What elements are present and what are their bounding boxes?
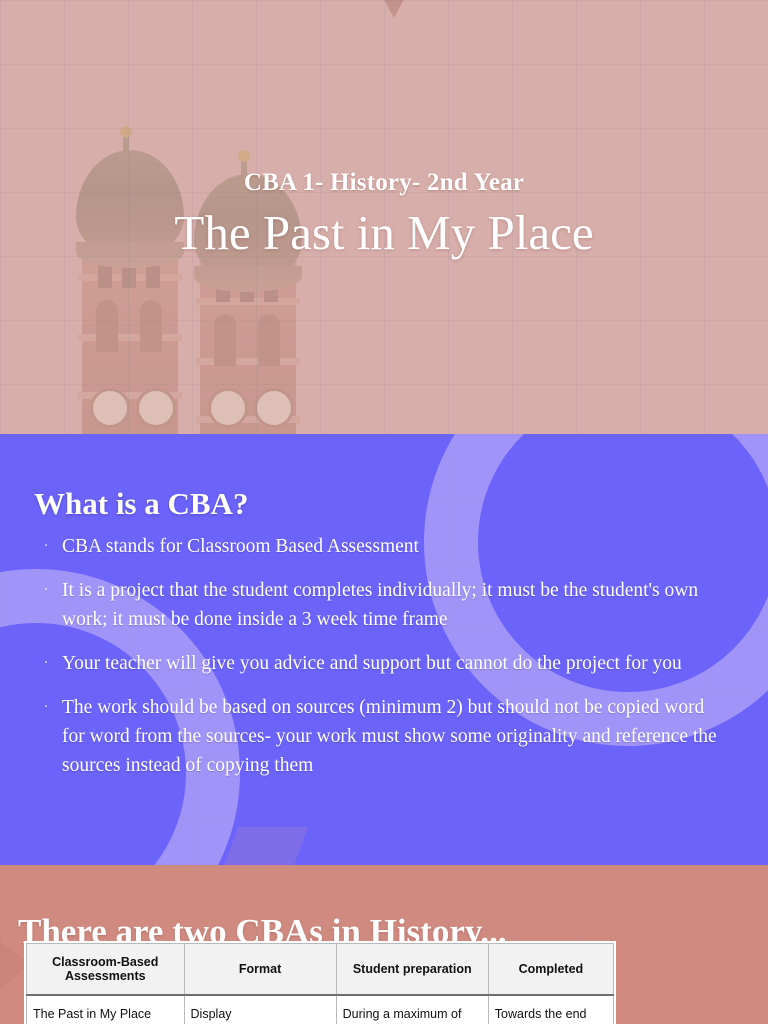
list-item-text: It is a project that the student complet…	[62, 576, 720, 634]
list-item-text: CBA stands for Classroom Based Assessmen…	[62, 532, 419, 561]
down-triangle-icon	[366, 0, 422, 18]
slide-main-title: The Past in My Place	[0, 204, 768, 262]
table-header-row: Classroom-Based Assessments Format Stude…	[27, 944, 614, 996]
cba-table: Classroom-Based Assessments Format Stude…	[26, 943, 614, 1024]
list-item: · Your teacher will give you advice and …	[30, 649, 720, 678]
column-header-completed: Completed	[488, 944, 613, 996]
list-item: · It is a project that the student compl…	[30, 576, 720, 634]
slide-what-is-a-cba: What is a CBA? · CBA stands for Classroo…	[0, 434, 768, 865]
bullet-dot-icon: ·	[30, 693, 62, 780]
table-row: The Past in My Place Display During a ma…	[27, 995, 614, 1024]
bullet-list: · CBA stands for Classroom Based Assessm…	[30, 532, 720, 795]
list-item-text: Your teacher will give you advice and su…	[62, 649, 682, 678]
wedge-decoration-icon	[222, 827, 308, 865]
column-header-assessments: Classroom-Based Assessments	[27, 944, 185, 996]
cba-table-container: Classroom-Based Assessments Format Stude…	[24, 941, 616, 1024]
slide-heading: What is a CBA?	[34, 486, 248, 522]
bullet-dot-icon: ·	[30, 532, 62, 561]
cell-format: Display	[184, 995, 336, 1024]
cell-student-preparation: During a maximum of	[336, 995, 488, 1024]
slide-two-cbas: There are two CBAs in History... Classro…	[0, 865, 768, 1024]
cell-completed: Towards the end	[488, 995, 613, 1024]
presentation-page: CBA 1- History- 2nd Year The Past in My …	[0, 0, 768, 1024]
slide-subtitle: CBA 1- History- 2nd Year	[0, 168, 768, 198]
column-header-format: Format	[184, 944, 336, 996]
slide-title: CBA 1- History- 2nd Year The Past in My …	[0, 0, 768, 434]
bullet-dot-icon: ·	[30, 649, 62, 678]
list-item: · CBA stands for Classroom Based Assessm…	[30, 532, 720, 561]
bullet-dot-icon: ·	[30, 576, 62, 634]
list-item: · The work should be based on sources (m…	[30, 693, 720, 780]
cell-assessment-name: The Past in My Place	[27, 995, 185, 1024]
list-item-text: The work should be based on sources (min…	[62, 693, 720, 780]
column-header-student-preparation: Student preparation	[336, 944, 488, 996]
title-block: CBA 1- History- 2nd Year The Past in My …	[0, 168, 768, 262]
